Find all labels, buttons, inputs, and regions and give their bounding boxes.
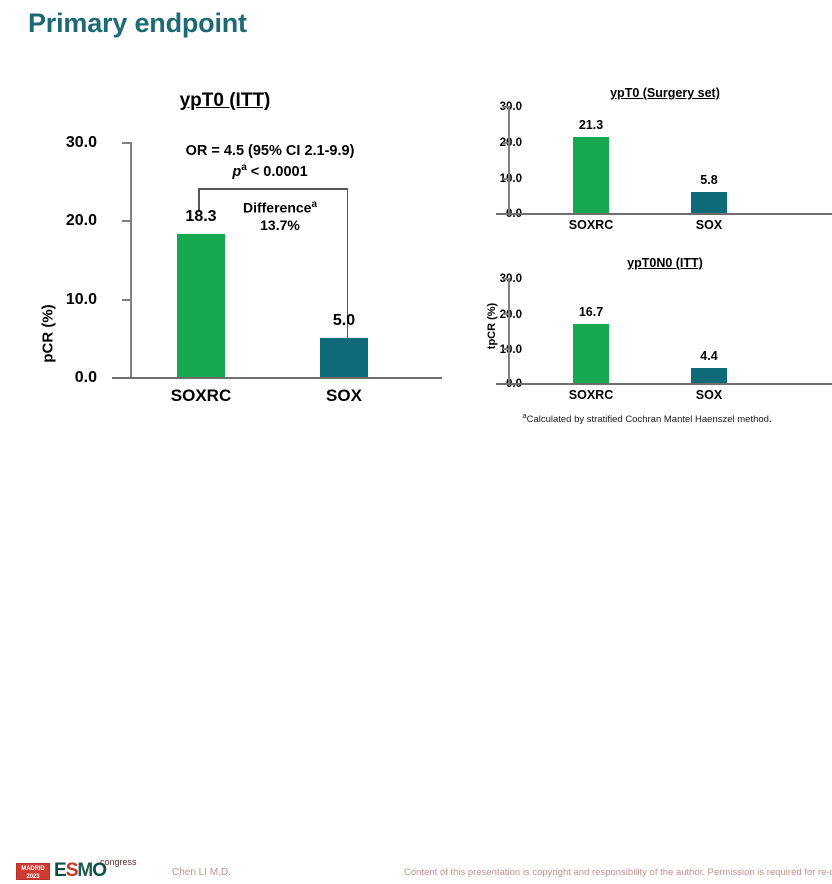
annotation-difference-value: 13.7% [260, 217, 300, 233]
y-axis-line [130, 142, 132, 378]
page-title: Primary endpoint [28, 8, 247, 39]
difference-bracket-right-leg [347, 188, 349, 361]
bar-soxrc [177, 234, 225, 377]
chart-title-ypt0-surgery-set: ypT0 (Surgery set) [570, 86, 760, 100]
slide-canvas: Primary endpoint ypT0 (ITT) pCR (%) 30.0… [0, 0, 832, 468]
copyright-notice: Content of this presentation is copyrigh… [404, 867, 832, 878]
chart-title-ypt0n0-itt: ypT0N0 (ITT) [570, 256, 760, 270]
chart-ypt0-surgery-set: ypT0 (Surgery set) pCR (%) 30.0 20.0 10.… [462, 86, 832, 236]
y-tick-10-ypt0n0: 10.0 [476, 344, 522, 356]
esmo-wordmark: ESMO [54, 860, 106, 882]
badge-line-city: MADRID [17, 865, 49, 873]
x-axis-line [112, 377, 442, 379]
esmo-letter-e: E [54, 860, 66, 881]
category-label-soxrc: SOXRC [151, 386, 251, 406]
bar-soxrc-surgery [573, 137, 609, 213]
bar-value-sox-ypt0n0: 4.4 [679, 349, 739, 363]
y-axis-label-pcr: pCR (%) [40, 304, 57, 364]
chart-ypt0-itt: ypT0 (ITT) pCR (%) 30.0 20.0 10.0 0.0 OR… [0, 80, 455, 420]
category-label-sox: SOX [294, 386, 394, 406]
bar-sox-surgery [691, 192, 727, 213]
madrid-2023-badge: MADRID 2023 [16, 863, 50, 880]
y-tick-10-surgery: 10.0 [476, 173, 522, 185]
y-tick-0: 0.0 [37, 369, 97, 387]
annotation-difference-sup: a [311, 199, 317, 210]
annotation-pvalue: pa < 0.0001 [160, 162, 380, 180]
annotation-pvalue-rest: < 0.0001 [247, 164, 308, 180]
y-tick-10: 10.0 [37, 291, 97, 309]
bar-soxrc-ypt0n0 [573, 324, 609, 383]
y-axis-line-ypt0n0 [508, 278, 510, 384]
x-axis-line-ypt0n0 [496, 383, 832, 385]
difference-bracket-top [198, 188, 348, 190]
y-tick-20: 20.0 [37, 212, 97, 230]
esmo-congress-logo: MADRID 2023 ESMO congress [16, 860, 136, 884]
bar-value-sox: 5.0 [304, 312, 384, 330]
category-label-soxrc-surgery: SOXRC [556, 218, 626, 232]
esmo-congress-word: congress [100, 857, 137, 867]
annotation-odds-ratio: OR = 4.5 (95% CI 2.1-9.9) [160, 143, 380, 159]
bar-value-soxrc-surgery: 21.3 [561, 118, 621, 132]
esmo-letter-m: M [77, 860, 92, 881]
presenter-name: Chen LI M.D. [172, 867, 231, 878]
y-tick-20-ypt0n0: 20.0 [476, 309, 522, 321]
annotation-difference-label: Difference [243, 200, 311, 216]
category-label-sox-surgery: SOX [674, 218, 744, 232]
category-label-sox-ypt0n0: SOX [674, 388, 744, 402]
y-tick-20-surgery: 20.0 [476, 137, 522, 149]
bar-sox [320, 338, 368, 377]
bar-value-sox-surgery: 5.8 [679, 173, 739, 187]
category-label-soxrc-ypt0n0: SOXRC [556, 388, 626, 402]
bar-value-soxrc-ypt0n0: 16.7 [561, 305, 621, 319]
x-axis-line-surgery [496, 213, 832, 215]
footnote-text: Calculated by stratified Cochran Mantel … [527, 414, 772, 425]
footnote: aCalculated by stratified Cochran Mantel… [462, 411, 832, 425]
y-axis-line-surgery [508, 106, 510, 214]
esmo-letter-s: S [66, 860, 78, 881]
annotation-pvalue-p: p [232, 164, 241, 180]
y-tick-30: 30.0 [37, 134, 97, 152]
bar-value-soxrc: 18.3 [161, 208, 241, 226]
chart-title-ypt0-itt: ypT0 (ITT) [110, 90, 340, 112]
slide-footer: MADRID 2023 ESMO congress Chen LI M.D. C… [0, 428, 832, 468]
y-tick-30-ypt0n0: 30.0 [476, 273, 522, 285]
chart-ypt0n0-itt: ypT0N0 (ITT) tpCR (%) 30.0 20.0 10.0 0.0… [462, 256, 832, 416]
y-tick-30-surgery: 30.0 [476, 101, 522, 113]
bar-sox-ypt0n0 [691, 368, 727, 383]
badge-line-year: 2023 [17, 873, 49, 881]
